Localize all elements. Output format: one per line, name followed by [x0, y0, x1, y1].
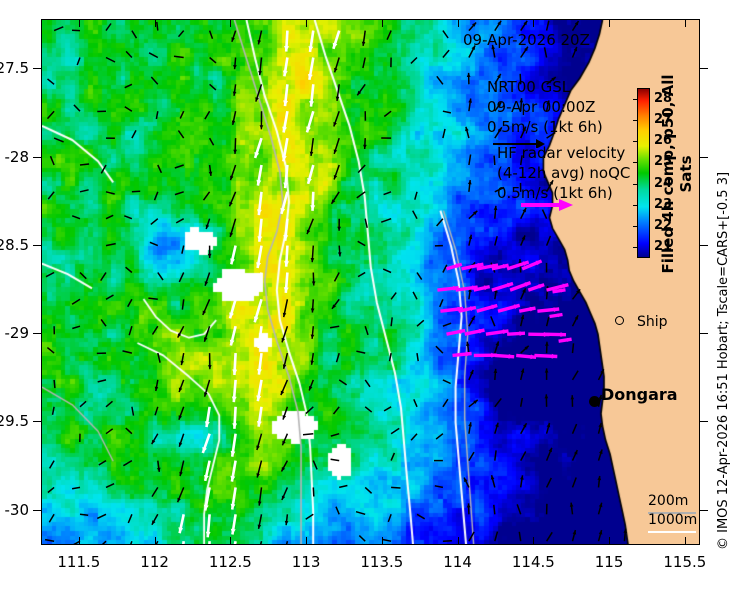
velocity-vector: [390, 353, 392, 361]
velocity-vector: [72, 326, 80, 328]
velocity-vector: [129, 326, 132, 335]
colorbar-tick-mark: [633, 226, 637, 227]
y-tick-mark: [700, 421, 708, 422]
velocity-vector: [98, 380, 106, 382]
velocity-vector: [383, 269, 391, 272]
geostrophic-label-line2: 09-Apr 00:00Z: [487, 98, 595, 116]
velocity-vector: [97, 514, 106, 518]
x-tick-mark: [306, 19, 307, 27]
velocity-vector: [178, 131, 183, 139]
velocity-vector: [158, 353, 160, 363]
velocity-vector-head: [230, 233, 234, 237]
velocity-vector: [517, 504, 521, 514]
velocity-vector: [495, 236, 497, 245]
velocity-vector: [101, 165, 106, 173]
x-axis-tick-label: 113: [276, 553, 336, 571]
x-tick-mark: [533, 537, 534, 545]
velocity-vector: [469, 532, 474, 541]
velocity-vector: [158, 165, 162, 173]
x-axis-tick-label: 115.5: [655, 553, 715, 571]
velocity-vector-head: [256, 446, 260, 451]
velocity-vector: [339, 380, 346, 385]
velocity-vector: [155, 192, 158, 200]
y-axis-tick-label: -28: [0, 148, 29, 166]
y-tick-mark: [700, 68, 708, 69]
velocity-vector: [123, 351, 132, 353]
velocity-vector: [357, 192, 365, 198]
x-axis-tick-label: 112: [125, 553, 185, 571]
velocity-vector: [205, 111, 210, 119]
velocity-vector: [443, 323, 451, 326]
velocity-vector: [440, 299, 443, 307]
velocity-vector-head: [334, 175, 337, 180]
velocity-vector: [126, 267, 132, 272]
velocity-vector: [358, 165, 365, 173]
y-axis-tick-label: -29: [0, 324, 29, 342]
x-tick-mark: [609, 537, 610, 545]
x-tick-mark: [685, 19, 686, 27]
velocity-vector: [573, 343, 574, 353]
colorbar-tick-mark: [633, 99, 637, 100]
velocity-vector: [106, 401, 113, 407]
dongara-marker-icon: [589, 396, 600, 407]
velocity-vector: [208, 541, 209, 545]
velocity-vector: [48, 487, 54, 492]
velocity-vector: [157, 22, 158, 31]
velocity-vector: [45, 540, 54, 542]
velocity-vector-head: [333, 122, 337, 127]
velocity-vector-head: [233, 65, 237, 69]
velocity-vector: [356, 351, 365, 353]
velocity-vector: [158, 273, 163, 281]
velocity-vector: [49, 514, 54, 522]
velocity-vector: [391, 317, 392, 326]
sst-map-plot[interactable]: [41, 19, 700, 545]
velocity-vector: [155, 407, 158, 415]
velocity-vector-head: [284, 261, 289, 267]
velocity-vector-head: [232, 423, 237, 429]
velocity-vector: [436, 434, 443, 439]
velocity-vector: [365, 219, 367, 228]
velocity-vector: [175, 192, 184, 195]
velocity-vector: [153, 326, 158, 334]
velocity-vector: [132, 31, 137, 39]
velocity-vector: [50, 461, 55, 469]
ship-marker-icon: [615, 316, 624, 325]
x-axis-tick-label: 115: [579, 553, 639, 571]
velocity-vector: [150, 242, 158, 245]
velocity-vector: [443, 129, 445, 138]
velocity-vector-head: [494, 206, 498, 210]
x-axis-tick-label: 112.5: [200, 553, 260, 571]
velocity-vector-head: [283, 415, 287, 420]
y-axis-tick-label: -27.5: [0, 59, 29, 77]
velocity-vector: [365, 380, 370, 387]
velocity-vector: [443, 399, 448, 407]
velocity-vector: [417, 353, 418, 361]
velocity-vector: [383, 540, 392, 542]
x-tick-mark: [230, 537, 231, 545]
velocity-vector: [495, 398, 502, 406]
velocity-vector: [128, 541, 132, 545]
velocity-vector: [411, 434, 417, 441]
velocity-vector: [123, 461, 131, 466]
velocity-vector: [106, 58, 115, 63]
velocity-vector: [181, 541, 184, 545]
hfradar-label-line1: HF radar velocity: [497, 144, 625, 162]
velocity-vector: [99, 461, 106, 465]
velocity-vector: [469, 452, 474, 461]
y-tick-mark: [700, 245, 708, 246]
velocity-vector-head: [312, 281, 316, 285]
velocity-vector: [210, 138, 214, 145]
x-axis-tick-label: 111.5: [49, 553, 109, 571]
velocity-vector: [337, 353, 340, 362]
velocity-vector-head: [599, 450, 603, 455]
x-tick-mark: [458, 19, 459, 27]
velocity-vector: [106, 429, 113, 434]
velocity-vector: [48, 192, 54, 199]
y-axis-tick-label: -29.5: [0, 412, 29, 430]
velocity-vector: [124, 216, 132, 219]
velocity-vector: [331, 434, 339, 436]
velocity-vector: [54, 138, 64, 142]
x-tick-mark: [155, 19, 156, 27]
velocity-vector: [126, 51, 132, 57]
velocity-vector: [443, 50, 449, 57]
velocity-vector: [156, 111, 157, 119]
velocity-vector-head: [545, 342, 549, 346]
velocity-vector-head: [204, 337, 208, 342]
velocity-vector: [48, 79, 55, 84]
velocity-vector: [46, 273, 54, 277]
velocity-vector: [519, 532, 520, 541]
velocity-vector: [387, 31, 391, 40]
velocity-vector-head: [338, 252, 342, 256]
velocity-vector: [72, 216, 80, 219]
velocity-vector: [180, 111, 184, 118]
geostrophic-label-line3: 0.5m/s (1kt 6h): [487, 118, 603, 136]
velocity-vector: [72, 487, 80, 488]
velocity-vector: [443, 31, 448, 38]
figure-canvas: 111.5112112.5113113.5114114.5115115.5-27…: [0, 0, 740, 592]
velocity-vector: [356, 512, 365, 515]
velocity-vector: [80, 514, 88, 515]
velocity-vector: [148, 298, 157, 299]
velocity-vector: [365, 407, 372, 412]
velocity-vector: [149, 53, 158, 58]
velocity-vector: [210, 84, 216, 90]
velocity-vector-head: [311, 258, 315, 262]
velocity-vector: [126, 428, 132, 434]
velocity-vector: [436, 346, 443, 353]
velocity-vector: [132, 191, 140, 192]
velocity-vector-head: [205, 281, 208, 286]
y-tick-mark: [33, 68, 41, 69]
velocity-vector-head: [179, 442, 183, 447]
velocity-vector: [417, 514, 425, 519]
velocity-vector: [547, 236, 551, 246]
x-tick-mark: [685, 537, 686, 545]
velocity-vector: [53, 407, 55, 415]
y-tick-mark: [700, 333, 708, 334]
x-tick-mark: [79, 537, 80, 545]
velocity-vector: [417, 273, 422, 280]
velocity-vector: [469, 155, 471, 166]
velocity-vector: [384, 192, 392, 195]
velocity-vector: [125, 84, 132, 87]
velocity-vector-head: [495, 423, 499, 428]
velocity-vector-head: [231, 37, 235, 42]
y-axis-tick-label: -28.5: [0, 236, 29, 254]
velocity-vector-head: [496, 341, 500, 346]
y-axis-tick-label: -30: [0, 501, 29, 519]
geostrophic-label-line1: NRT00 GSL: [487, 78, 570, 96]
velocity-vector: [182, 246, 184, 254]
dongara-label: Dongara: [601, 385, 678, 404]
velocity-vector: [521, 452, 526, 461]
colorbar-tick-mark: [633, 141, 637, 142]
velocity-vector-head: [260, 125, 264, 129]
velocity-vector-head: [467, 73, 471, 77]
velocity-vector: [547, 478, 552, 488]
y-tick-mark: [33, 245, 41, 246]
velocity-vector: [179, 31, 184, 37]
depth-1000m-label: 1000m: [648, 512, 697, 528]
velocity-vector: [106, 244, 116, 246]
velocity-vector: [106, 295, 114, 299]
velocity-vector-head: [232, 397, 237, 403]
y-tick-mark: [33, 510, 41, 511]
velocity-vector-head: [229, 285, 234, 291]
velocity-vector: [128, 514, 132, 523]
velocity-vector: [437, 76, 443, 84]
velocity-vector: [381, 219, 391, 223]
velocity-vector: [106, 484, 114, 488]
velocity-vector: [331, 459, 340, 460]
velocity-vector-head: [337, 227, 341, 231]
velocity-vector: [132, 407, 134, 416]
velocity-vector: [106, 192, 115, 194]
velocity-vector: [101, 319, 106, 326]
ship-legend-label: Ship: [637, 314, 668, 330]
velocity-vector: [573, 424, 577, 434]
colorbar-tick-mark: [633, 205, 637, 206]
velocity-vector-head: [545, 368, 549, 372]
velocity-vector: [176, 219, 184, 223]
y-tick-mark: [700, 510, 708, 511]
velocity-vector-head: [363, 145, 367, 149]
colorbar-tick-mark: [633, 184, 637, 185]
x-tick-mark: [533, 19, 534, 27]
velocity-vector: [182, 299, 183, 309]
velocity-vector-head: [284, 46, 289, 52]
velocity-vector: [521, 398, 523, 407]
velocity-vector: [443, 111, 451, 113]
velocity-vector: [106, 24, 111, 31]
velocity-vector-head: [202, 447, 207, 453]
velocity-vector-head: [232, 369, 237, 375]
velocity-vector: [210, 31, 213, 39]
velocity-vector: [74, 105, 80, 111]
velocity-vector-head: [282, 338, 285, 343]
timestamp-annotation: 09-Apr-2026 20Z: [463, 31, 590, 49]
velocity-vector: [413, 211, 417, 219]
velocity-vector-head: [311, 335, 315, 339]
velocity-vector: [48, 111, 55, 118]
velocity-vector: [417, 320, 424, 326]
velocity-vector: [313, 461, 317, 470]
velocity-vector: [358, 273, 365, 277]
velocity-vector-layer: [42, 20, 700, 545]
velocity-vector: [414, 399, 417, 407]
x-axis-tick-label: 113.5: [352, 553, 412, 571]
velocity-vector-head: [206, 225, 210, 230]
velocity-vector: [54, 27, 63, 31]
velocity-vector: [174, 56, 184, 57]
velocity-vector: [547, 317, 549, 326]
velocity-vector: [232, 541, 236, 545]
velocity-vector: [336, 507, 339, 515]
velocity-vector: [335, 273, 340, 282]
velocity-vector-head: [230, 176, 233, 181]
velocity-vector-head: [571, 395, 575, 399]
velocity-vector: [306, 407, 313, 414]
velocity-vector: [54, 380, 55, 388]
velocity-vector: [80, 164, 89, 165]
velocity-vector-head: [494, 369, 498, 373]
velocity-vector: [495, 450, 496, 460]
x-tick-mark: [458, 537, 459, 545]
velocity-vector: [573, 478, 577, 488]
velocity-vector-head: [334, 68, 338, 73]
velocity-vector-head: [467, 503, 471, 507]
velocity-vector: [125, 107, 132, 112]
velocity-vector: [313, 487, 314, 496]
depth-1000m-line-sample: [648, 531, 696, 533]
velocity-vector: [415, 192, 417, 200]
velocity-vector: [391, 453, 394, 461]
velocity-vector: [285, 541, 288, 545]
velocity-vector: [128, 299, 132, 307]
velocity-vector: [384, 111, 391, 116]
velocity-vector: [365, 487, 371, 493]
velocity-vector: [132, 130, 136, 138]
velocity-vector-head: [179, 388, 182, 393]
velocity-vector: [413, 292, 417, 299]
depth-200m-label: 200m: [648, 493, 688, 509]
velocity-vector: [443, 380, 451, 384]
velocity-vector-head: [311, 308, 315, 312]
velocity-vector: [384, 407, 391, 411]
velocity-vector: [339, 486, 347, 488]
velocity-vector-head: [208, 365, 212, 369]
x-tick-mark: [382, 537, 383, 545]
colorbar-tick-mark: [633, 162, 637, 163]
velocity-vector: [443, 265, 447, 273]
velocity-vector: [388, 514, 391, 522]
velocity-vector: [80, 273, 86, 279]
velocity-vector: [175, 165, 184, 168]
velocity-vector: [391, 293, 396, 300]
velocity-vector: [330, 326, 339, 328]
x-axis-tick-label: 114.5: [503, 553, 563, 571]
velocity-vector: [391, 428, 399, 433]
velocity-vector: [495, 532, 498, 542]
velocity-vector: [77, 58, 80, 66]
velocity-vector: [391, 487, 400, 488]
velocity-vector-head: [255, 97, 258, 101]
velocity-vector: [204, 192, 210, 200]
velocity-vector-head: [334, 149, 338, 154]
velocity-vector: [547, 21, 549, 31]
velocity-vector-head: [284, 287, 289, 293]
y-tick-mark: [700, 157, 708, 158]
velocity-vector-head: [179, 415, 182, 420]
x-tick-mark: [306, 537, 307, 545]
hfradar-label-line2: (4-12h avg) noQC: [497, 164, 630, 182]
velocity-vector: [494, 505, 495, 515]
attribution-text: © IMOS 12-Apr-2026 16:51 Hobart; Tscale=…: [716, 180, 731, 550]
velocity-vector: [491, 316, 495, 326]
velocity-vector: [547, 532, 553, 541]
y-tick-mark: [33, 333, 41, 334]
x-tick-mark: [609, 19, 610, 27]
velocity-vector-head: [204, 392, 208, 397]
velocity-vector: [437, 219, 443, 226]
velocity-vector: [47, 348, 54, 354]
colorbar-tick-mark: [633, 247, 637, 248]
velocity-vector: [101, 273, 106, 281]
velocity-vector: [573, 371, 579, 380]
velocity-vector: [358, 241, 366, 245]
velocity-vector: [179, 273, 183, 282]
velocity-vector: [80, 190, 89, 192]
velocity-vector: [306, 514, 314, 519]
velocity-vector-head: [545, 394, 549, 398]
velocity-vector: [435, 486, 443, 488]
velocity-vector: [258, 541, 262, 545]
velocity-vector-head: [310, 205, 315, 211]
colorbar-title: Filled 4h comp, p50, All Sats: [659, 74, 695, 274]
velocity-vector: [152, 487, 158, 496]
velocity-vector: [303, 434, 313, 435]
velocity-vector: [363, 58, 365, 69]
y-tick-mark: [33, 157, 41, 158]
velocity-vector-head: [208, 254, 212, 258]
y-tick-mark: [33, 421, 41, 422]
x-tick-mark: [79, 19, 80, 27]
velocity-vector: [359, 536, 365, 542]
hfradar-reference-arrow-icon: [520, 198, 574, 212]
velocity-vector: [151, 219, 158, 225]
velocity-vector: [72, 299, 80, 304]
velocity-vector: [151, 77, 158, 84]
x-tick-mark: [230, 19, 231, 27]
velocity-vector: [106, 215, 113, 218]
velocity-vector: [51, 156, 55, 165]
velocity-vector: [494, 156, 495, 165]
x-tick-mark: [155, 537, 156, 545]
velocity-vector-head: [233, 150, 237, 154]
velocity-vector: [365, 326, 368, 335]
velocity-vector: [210, 58, 216, 63]
velocity-vector: [80, 401, 86, 407]
colorbar-gradient: [637, 88, 650, 258]
velocity-vector: [411, 58, 417, 64]
x-tick-mark: [382, 19, 383, 27]
colorbar-tick-mark: [633, 120, 637, 121]
